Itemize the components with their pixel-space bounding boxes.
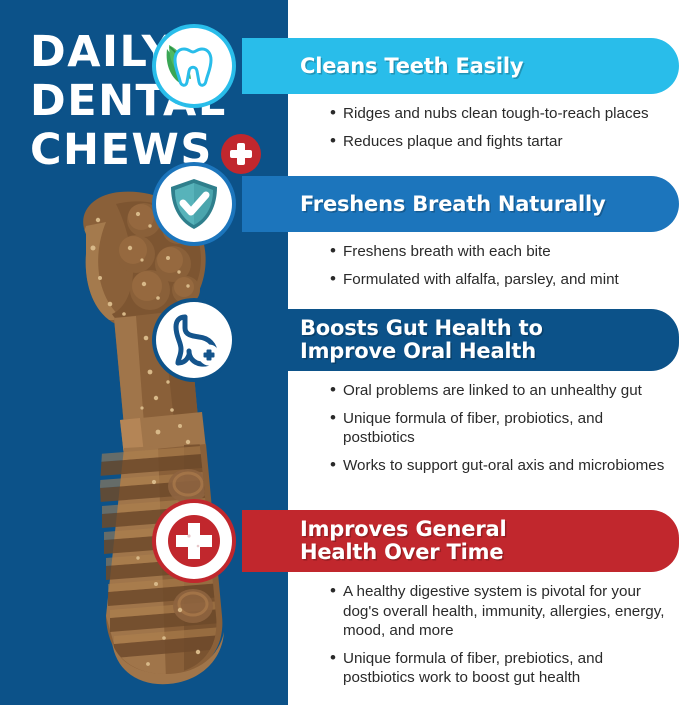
benefits-column: Cleans Teeth Easily Ridges and nubs clea… bbox=[288, 0, 679, 705]
benefit-block-cleans-teeth: Cleans Teeth Easily Ridges and nubs clea… bbox=[288, 38, 679, 151]
shield-check-icon bbox=[156, 166, 232, 242]
stomach-plus-icon bbox=[156, 302, 232, 378]
brand-title: DAILY DENTAL CHEWS bbox=[30, 28, 270, 175]
bullet-item: Formulated with alfalfa, parsley, and mi… bbox=[330, 270, 673, 290]
medical-cross-icon bbox=[156, 503, 232, 579]
bullet-item: Works to support gut-oral axis and micro… bbox=[330, 456, 673, 476]
benefit-block-improves-general-health: Improves General Health Over Time A heal… bbox=[288, 510, 679, 688]
benefit-bullets-improves-general-health: A healthy digestive system is pivotal fo… bbox=[288, 582, 679, 688]
benefit-banner-freshens-breath: Freshens Breath Naturally bbox=[242, 176, 679, 232]
benefit-title-line-2: Improve Oral Health bbox=[300, 340, 543, 363]
benefit-bullets-cleans-teeth: Ridges and nubs clean tough-to-reach pla… bbox=[288, 104, 679, 151]
benefit-banner-boosts-gut-health: Boosts Gut Health to Improve Oral Health bbox=[242, 309, 679, 371]
benefit-title-line-1: Improves General bbox=[300, 517, 506, 541]
benefit-bullets-boosts-gut-health: Oral problems are linked to an unhealthy… bbox=[288, 381, 679, 475]
benefit-bullets-freshens-breath: Freshens breath with each bite Formulate… bbox=[288, 242, 679, 289]
bullet-item: A healthy digestive system is pivotal fo… bbox=[330, 582, 673, 641]
benefit-block-freshens-breath: Freshens Breath Naturally Freshens breat… bbox=[288, 176, 679, 289]
bullet-item: Reduces plaque and fights tartar bbox=[330, 132, 673, 152]
benefit-block-boosts-gut-health: Boosts Gut Health to Improve Oral Health… bbox=[288, 309, 679, 475]
benefit-title-line-2: Health Over Time bbox=[300, 541, 506, 564]
benefit-title-line-1: Boosts Gut Health to bbox=[300, 316, 543, 340]
bullet-item: Unique formula of fiber, probiotics, and… bbox=[330, 409, 673, 448]
benefit-banner-improves-general-health: Improves General Health Over Time bbox=[242, 510, 679, 572]
bullet-item: Unique formula of fiber, prebiotics, and… bbox=[330, 649, 673, 688]
benefit-banner-cleans-teeth: Cleans Teeth Easily bbox=[242, 38, 679, 94]
benefit-title-improves-general-health: Improves General Health Over Time bbox=[300, 518, 506, 564]
brand-title-line-1: DAILY bbox=[30, 28, 270, 77]
brand-title-line-2: DENTAL bbox=[30, 77, 270, 126]
dental-chews-infographic: DAILY DENTAL CHEWS bbox=[0, 0, 679, 705]
tooth-mint-icon bbox=[156, 28, 232, 104]
benefit-title-freshens-breath: Freshens Breath Naturally bbox=[300, 193, 605, 216]
dog-dental-chew-illustration bbox=[38, 186, 258, 686]
bullet-item: Freshens breath with each bite bbox=[330, 242, 673, 262]
benefit-title-cleans-teeth: Cleans Teeth Easily bbox=[300, 55, 523, 78]
bullet-item: Ridges and nubs clean tough-to-reach pla… bbox=[330, 104, 673, 124]
brand-title-line-3-row: CHEWS bbox=[30, 126, 270, 175]
bullet-item: Oral problems are linked to an unhealthy… bbox=[330, 381, 673, 401]
medical-plus-icon bbox=[221, 134, 261, 174]
benefit-title-boosts-gut-health: Boosts Gut Health to Improve Oral Health bbox=[300, 317, 543, 363]
